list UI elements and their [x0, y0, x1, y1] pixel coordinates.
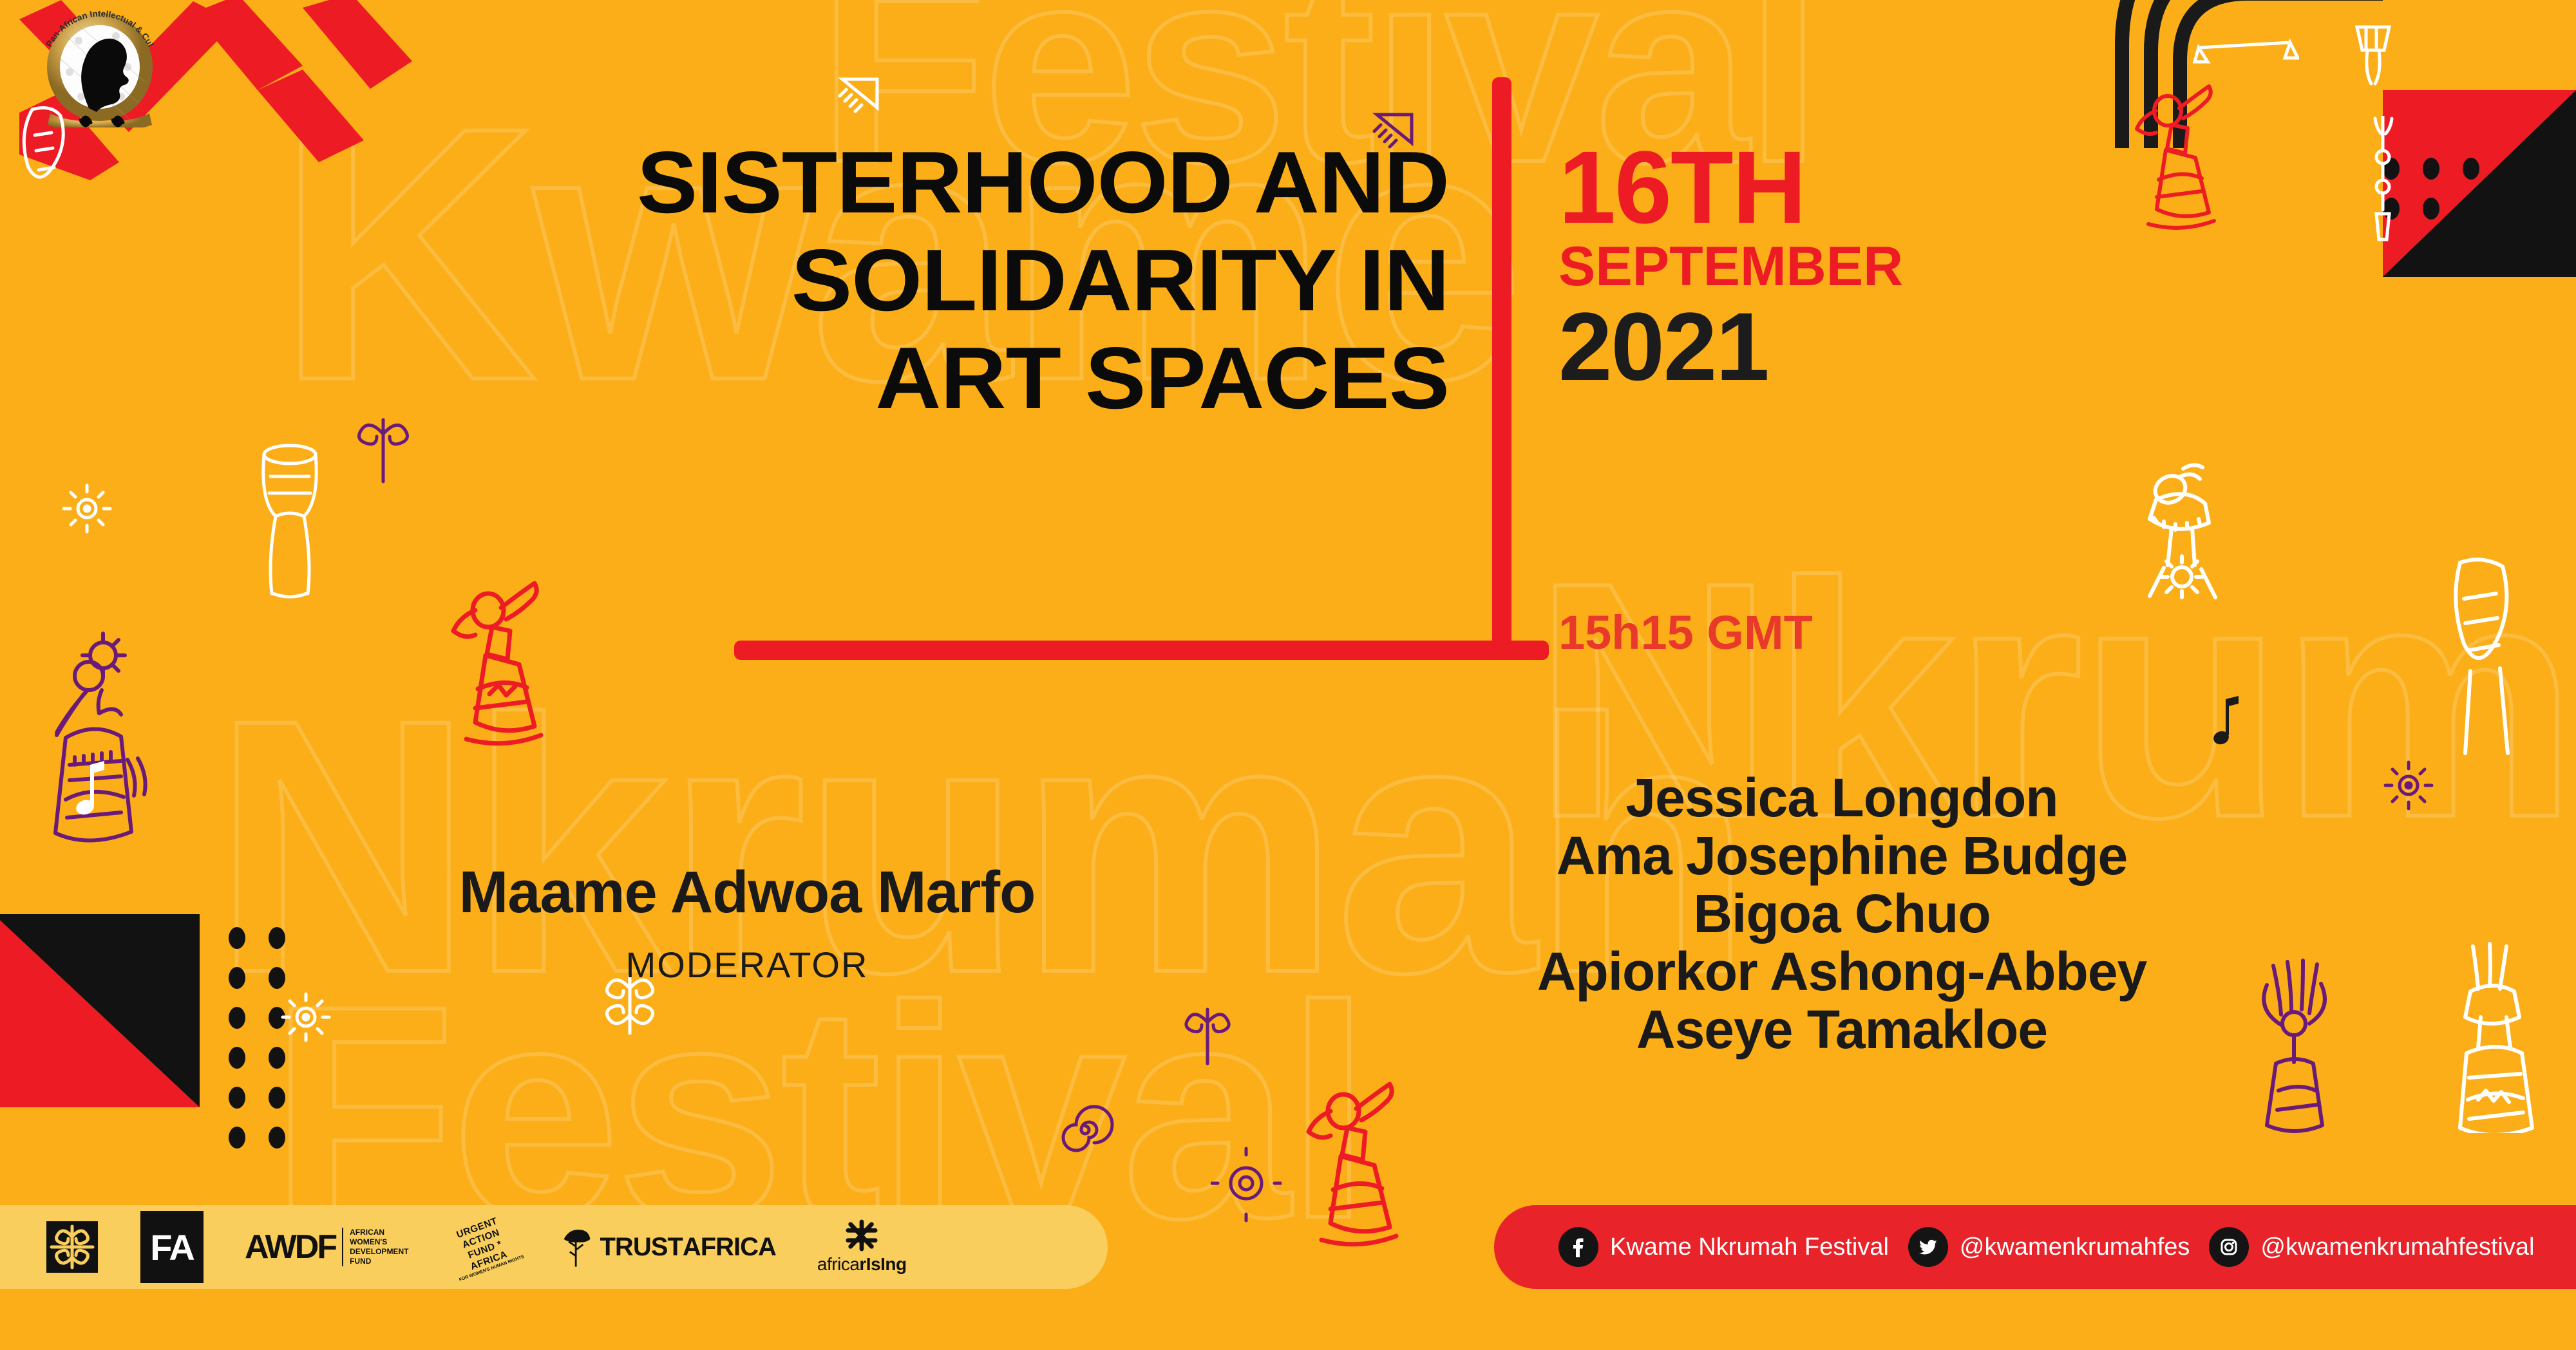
- speaker-name: Apiorkor Ashong-Abbey: [1340, 943, 2344, 1001]
- title-line-3: ART SPACES: [143, 334, 1449, 422]
- white-dancer-figure-right: [2125, 451, 2248, 618]
- speaker-name: Ama Josephine Budge: [1340, 827, 2344, 885]
- sun-adinkra-icon-3: [2383, 760, 2434, 811]
- poster-canvas: Festival Kwame Nkrumah Festival Nkrumah: [0, 0, 2576, 1350]
- trustafrica-wordmark: TRUSTAFRICA: [600, 1233, 776, 1262]
- speaker-name: Aseye Tamakloe: [1340, 1001, 2344, 1059]
- uaf-wordmark: URGENT ACTION FUND * AFRICA FOR WOMEN'S …: [443, 1211, 526, 1283]
- instagram-icon: [2209, 1227, 2249, 1267]
- social-media-bar: Kwame Nkrumah Festival @kwamenkrumahfes …: [1494, 1205, 2576, 1289]
- awdf-subtext: African Women's Development Fund: [342, 1228, 408, 1266]
- sponsor-logo-africarising: africarIsIng: [817, 1219, 907, 1275]
- mask-icon-left: [6, 103, 84, 245]
- bead-chain-icon: [2357, 116, 2409, 277]
- red-dancer-figure-center: [1294, 1082, 1423, 1262]
- moderator-role-label: MODERATOR: [309, 944, 1185, 986]
- sun-adinkra-icon-2: [280, 991, 332, 1043]
- dot-grid-top-right: [2383, 158, 2576, 238]
- sponsor-logo-trustafrica: TRUSTAFRICA: [560, 1226, 776, 1268]
- sponsor-logo-awdf: AWDF African Women's Development Fund: [245, 1228, 408, 1266]
- event-time: 15h15 GMT: [1558, 605, 1813, 660]
- red-divider-vertical: [1492, 77, 1511, 657]
- date-year: 2021: [1558, 298, 1903, 395]
- spiral-adinkra-icon-4: [1211, 1146, 1282, 1223]
- awdf-mark: AWDF: [245, 1228, 336, 1266]
- comb-adinkra-icon: [831, 68, 889, 126]
- split-square-bottom-left: [0, 914, 200, 1107]
- sponsor-logo-fa: FA: [140, 1211, 204, 1283]
- sponsor-logo-bar: FA AWDF African Women's Development Fund…: [0, 1205, 1108, 1289]
- sun-adinkra-icon: [61, 483, 113, 534]
- social-instagram[interactable]: @kwamenkrumahfestival: [2209, 1227, 2534, 1267]
- facebook-handle: Kwame Nkrumah Festival: [1610, 1233, 1889, 1261]
- moderator-name: Maame Adwoa Marfo: [309, 863, 1185, 922]
- title-line-1: SISTERHOOD AND: [143, 138, 1449, 226]
- event-date-block: 16TH SEPTEMBER 2021: [1558, 138, 1903, 395]
- moderator-block: Maame Adwoa Marfo MODERATOR: [309, 863, 1185, 986]
- speaker-name: Jessica Longdon: [1340, 769, 2344, 827]
- red-divider-horizontal: [734, 641, 1549, 660]
- speakers-block: Jessica Longdon Ama Josephine Budge Bigo…: [1340, 769, 2344, 1058]
- white-figure-far-right: [2434, 940, 2563, 1133]
- instagram-handle: @kwamenkrumahfestival: [2260, 1233, 2534, 1261]
- spiral-adinkra-icon-3: [1179, 1004, 1236, 1069]
- djembe-drum-icon: [251, 438, 328, 605]
- music-note-icon: [71, 760, 116, 824]
- sponsor-logo-adinkra: [45, 1220, 99, 1274]
- title-line-2: SOLIDARITY IN: [143, 236, 1449, 324]
- sponsor-logo-urgent-action-fund: URGENT ACTION FUND * AFRICA FOR WOMEN'S …: [450, 1221, 518, 1273]
- date-day: 16TH: [1558, 138, 1903, 236]
- adinkra-symbol-icon: [45, 1220, 99, 1274]
- twitter-handle: @kwamenkrumahfes: [1960, 1233, 2190, 1261]
- social-twitter[interactable]: @kwamenkrumahfes: [1908, 1227, 2190, 1267]
- social-facebook[interactable]: Kwame Nkrumah Festival: [1558, 1227, 1889, 1267]
- speaker-name: Bigoa Chuo: [1340, 885, 2344, 943]
- twitter-icon: [1908, 1227, 1948, 1267]
- facebook-icon: [1558, 1227, 1598, 1267]
- red-dancer-figure-left: [438, 579, 573, 760]
- xylophone-icon: [2190, 0, 2299, 84]
- purple-dancer-figure: [19, 612, 167, 869]
- acacia-tree-icon: [560, 1226, 594, 1268]
- event-title: SISTERHOOD AND SOLIDARITY IN ART SPACES: [193, 138, 1449, 432]
- africarising-wordmark: africarIsIng: [817, 1254, 907, 1275]
- music-note-icon-2: [2209, 695, 2248, 753]
- date-month: SEPTEMBER: [1558, 239, 1903, 294]
- white-figure-edge-right: [2441, 554, 2550, 760]
- drum-icon: [2344, 19, 2402, 97]
- spiral-dot-icon: [1056, 1101, 1114, 1159]
- dot-grid-bottom-left: [229, 927, 308, 1167]
- africarising-mark-icon: [843, 1219, 880, 1252]
- red-dancer-figure-right: [2125, 84, 2241, 245]
